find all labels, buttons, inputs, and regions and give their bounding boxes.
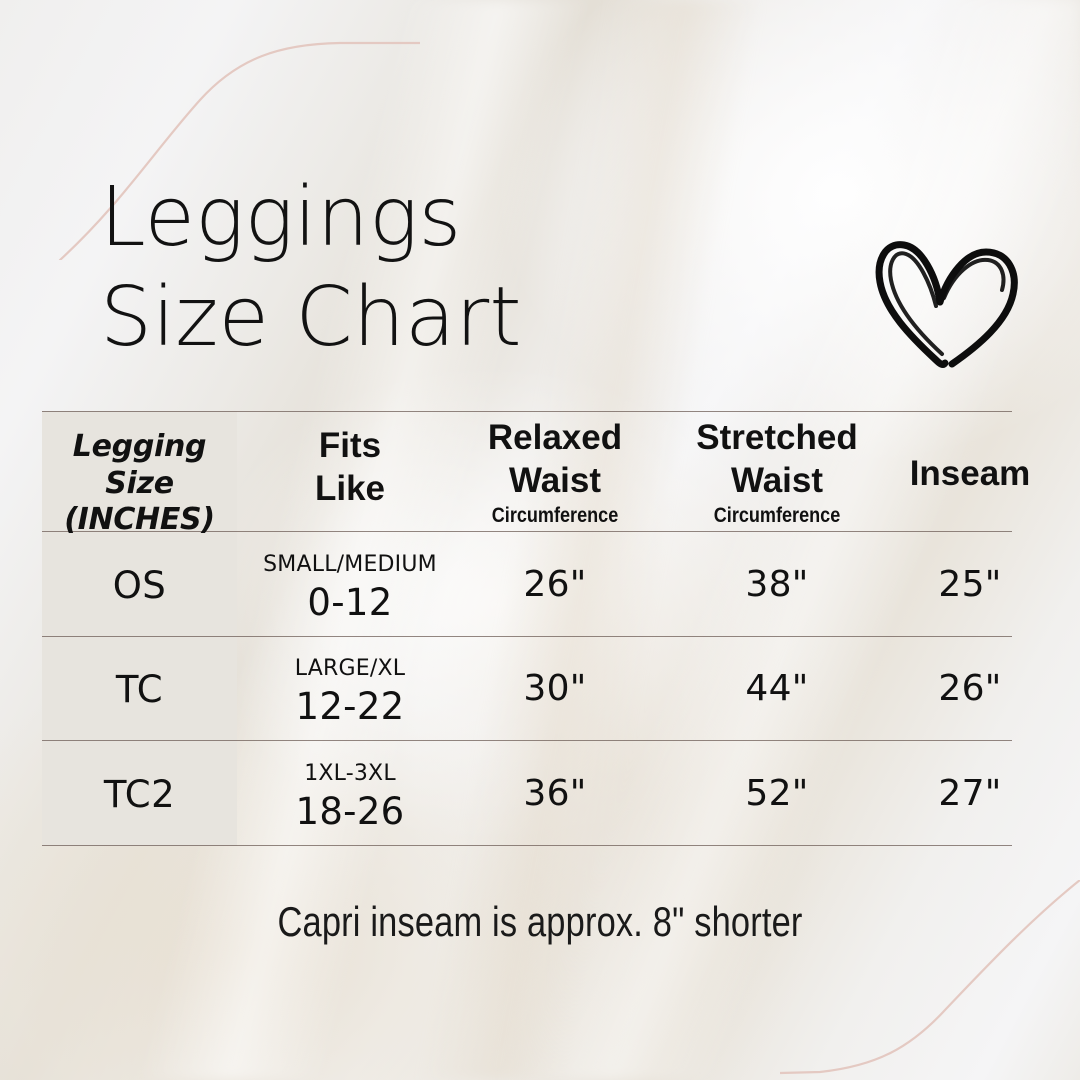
cell-relaxed-waist: 30" bbox=[450, 668, 660, 709]
cell-inseam: 27" bbox=[880, 773, 1060, 814]
header-inseam: Inseam bbox=[880, 453, 1060, 496]
header-stretched-waist-sub: Circumference bbox=[678, 504, 876, 527]
cell-size: TC bbox=[42, 668, 237, 711]
size-chart-table: Legging Size (INCHES) Fits Like Relaxed … bbox=[42, 411, 1012, 846]
heart-doodle-icon bbox=[866, 224, 1026, 376]
table-rule-row2 bbox=[42, 740, 1012, 741]
size-chart-canvas: Leggings Size Chart Legging Size (INCHES… bbox=[0, 0, 1080, 1080]
cell-stretched-waist: 44" bbox=[662, 668, 892, 709]
cell-fits-like-range: 0-12 bbox=[260, 581, 440, 624]
cell-inseam: 25" bbox=[880, 564, 1060, 605]
table-rule-bottom bbox=[42, 845, 1012, 846]
cell-inseam: 26" bbox=[880, 668, 1060, 709]
cell-stretched-waist: 38" bbox=[662, 564, 892, 605]
cell-fits-like-range: 12-22 bbox=[260, 685, 440, 728]
header-relaxed-waist-sub: Circumference bbox=[465, 504, 646, 527]
header-fits-like: Fits Like bbox=[260, 425, 440, 510]
cell-fits-like-label: SMALL/MEDIUM bbox=[260, 552, 440, 577]
cell-size: OS bbox=[42, 564, 237, 607]
cell-fits-like-label: LARGE/XL bbox=[260, 656, 440, 681]
cell-fits-like-label: 1XL-3XL bbox=[260, 761, 440, 786]
cell-stretched-waist: 52" bbox=[662, 773, 892, 814]
cell-size: TC2 bbox=[42, 773, 237, 816]
table-rule-top bbox=[42, 411, 1012, 412]
cell-relaxed-waist: 36" bbox=[450, 773, 660, 814]
page-title: Leggings Size Chart bbox=[100, 168, 522, 368]
header-legging-size: Legging Size (INCHES) bbox=[42, 429, 237, 539]
header-relaxed-waist: Relaxed Waist bbox=[450, 417, 660, 502]
cell-relaxed-waist: 26" bbox=[450, 564, 660, 605]
cell-fits-like-range: 18-26 bbox=[260, 790, 440, 833]
capri-inseam-note: Capri inseam is approx. 8" shorter bbox=[97, 898, 983, 946]
table-rule-row1 bbox=[42, 636, 1012, 637]
header-stretched-waist: Stretched Waist bbox=[662, 417, 892, 502]
